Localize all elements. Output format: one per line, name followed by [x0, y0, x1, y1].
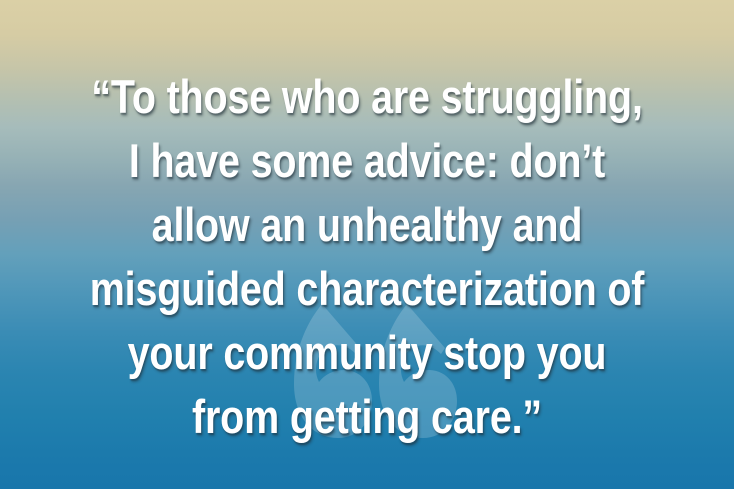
quote-text-block: “To those who are struggling, I have som…	[0, 0, 734, 489]
quote-line: “To those who are struggling,	[59, 65, 676, 129]
pull-quote-card: “To those who are struggling, I have som…	[0, 0, 734, 489]
quote-line: I have some advice: don’t	[59, 129, 676, 193]
quote-line: from getting care.”	[59, 385, 676, 449]
quote-line: allow an unhealthy and	[59, 193, 676, 257]
quote-line: misguided characterization of	[59, 257, 676, 321]
quote-line: your community stop you	[59, 321, 676, 385]
